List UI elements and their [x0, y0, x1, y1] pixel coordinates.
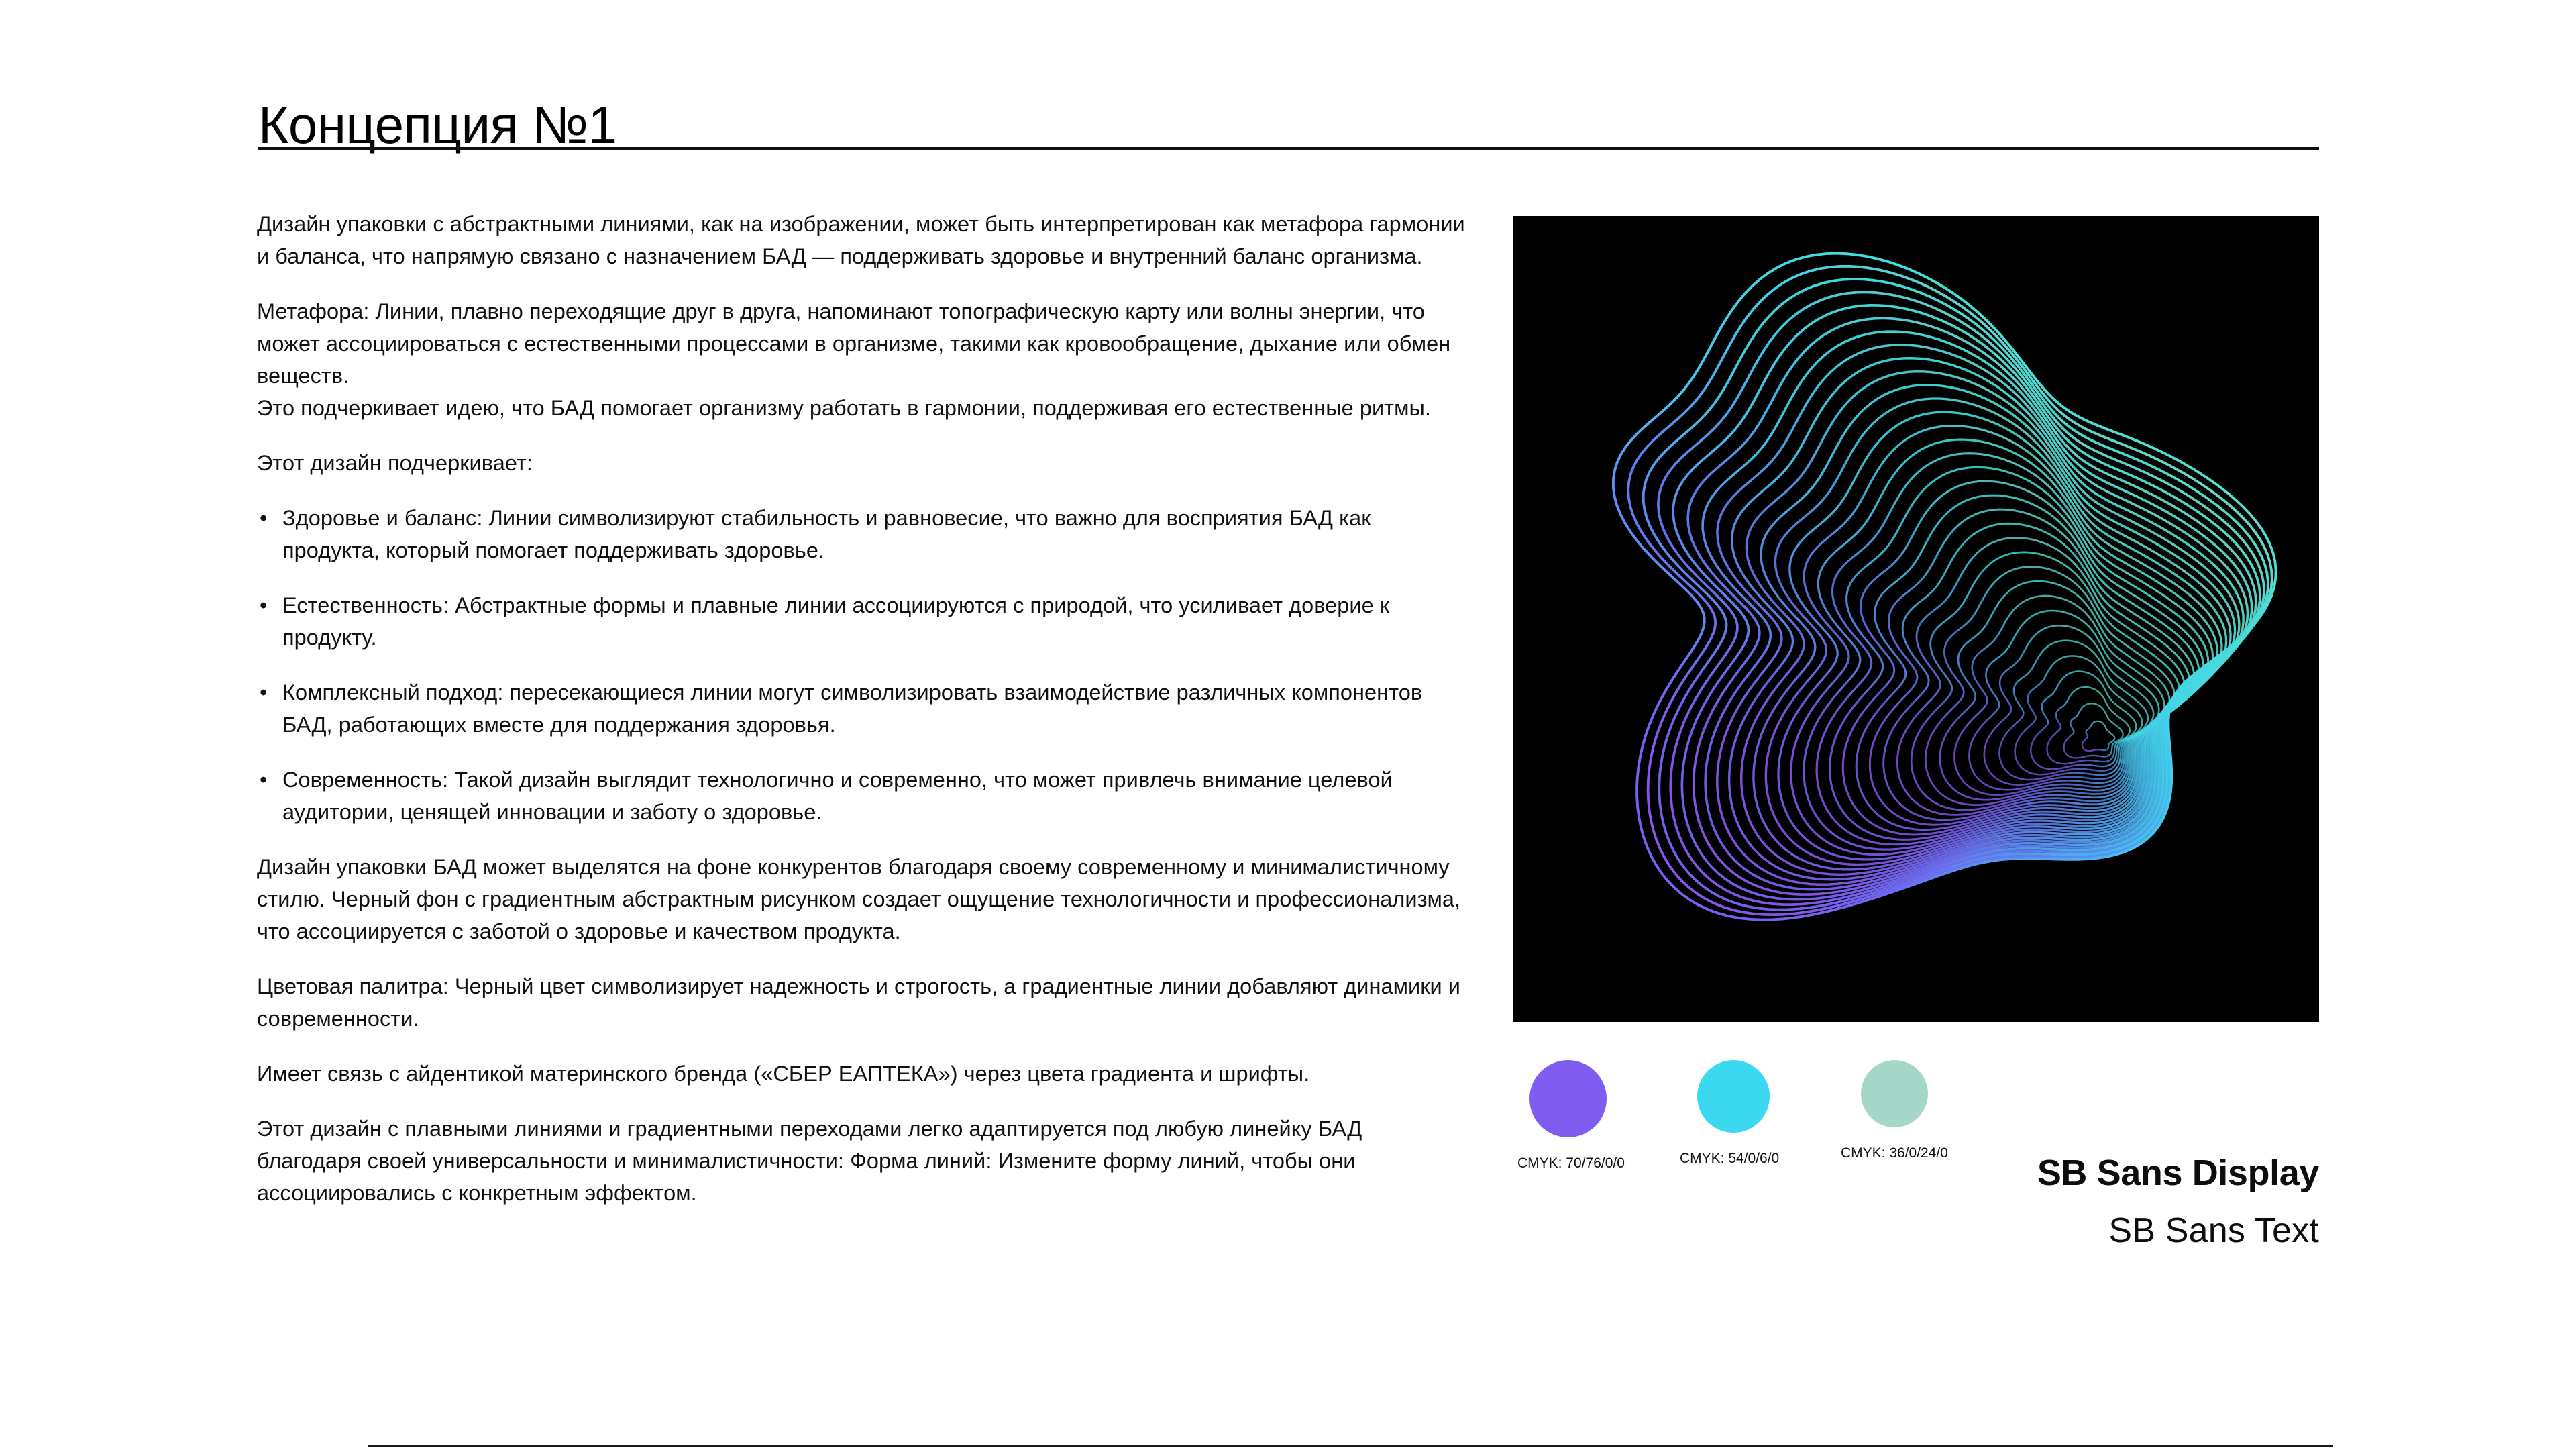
- paragraph-adaptability: Этот дизайн с плавными линиями и градиен…: [257, 1112, 1468, 1209]
- packaging-artwork-panel: [1513, 216, 2319, 1022]
- list-item-label: Естественность: Абстрактные формы и плав…: [282, 593, 1389, 650]
- paragraph-color-palette: Цветовая палитра: Черный цвет символизир…: [257, 970, 1468, 1035]
- bullet-icon: •: [260, 676, 267, 709]
- list-item-label: Современность: Такой дизайн выглядит тех…: [282, 768, 1393, 824]
- list-item: • Современность: Такой дизайн выглядит т…: [257, 764, 1468, 828]
- list-item: • Комплексный подход: пересекающиеся лин…: [257, 676, 1468, 741]
- palette-swatch-purple: CMYK: 70/76/0/0: [1517, 1060, 1672, 1172]
- swatch-color-dot: [1529, 1060, 1607, 1137]
- swatch-color-dot: [1861, 1060, 1928, 1127]
- paragraph-differentiation: Дизайн упаковки БАД может выделятся на ф…: [257, 851, 1468, 947]
- list-item-label: Комплексный подход: пересекающиеся линии…: [282, 680, 1422, 737]
- footer-divider: [368, 1445, 2333, 1447]
- font-display-name: SB Sans Display: [1715, 1151, 2319, 1194]
- bullet-icon: •: [260, 502, 267, 534]
- bullet-icon: •: [260, 589, 267, 621]
- paragraph-metaphor-continued: Это подчеркивает идею, что БАД помогает …: [257, 392, 1468, 424]
- swatch-cmyk-label: CMYK: 70/76/0/0: [1517, 1155, 1672, 1172]
- paragraph-brand-identity: Имеет связь с айдентикой материнского бр…: [257, 1057, 1468, 1090]
- abstract-contour-lines-graphic: [1513, 216, 2319, 1022]
- list-item: • Естественность: Абстрактные формы и пл…: [257, 589, 1468, 654]
- paragraph-metaphor: Метафора: Линии, плавно переходящие друг…: [257, 295, 1468, 392]
- bullet-icon: •: [260, 764, 267, 796]
- list-item-label: Здоровье и баланс: Линии символизируют с…: [282, 506, 1371, 562]
- paragraph-intro: Дизайн упаковки с абстрактными линиями, …: [257, 208, 1468, 272]
- page-title: Концепция №1: [258, 99, 617, 151]
- title-divider: [258, 147, 2319, 150]
- typography-specimens: SB Sans Display SB Sans Text: [1715, 1151, 2319, 1252]
- description-text-column: Дизайн упаковки с абстрактными линиями, …: [257, 208, 1468, 1232]
- font-text-name: SB Sans Text: [1715, 1209, 2319, 1252]
- swatch-color-dot: [1697, 1060, 1770, 1133]
- list-item: • Здоровье и баланс: Линии символизируют…: [257, 502, 1468, 566]
- palette-swatch-mint: CMYK: 36/0/24/0: [1838, 1060, 1992, 1162]
- benefits-list: • Здоровье и баланс: Линии символизируют…: [257, 502, 1468, 828]
- paragraph-emphasis-intro: Этот дизайн подчеркивает:: [257, 447, 1468, 479]
